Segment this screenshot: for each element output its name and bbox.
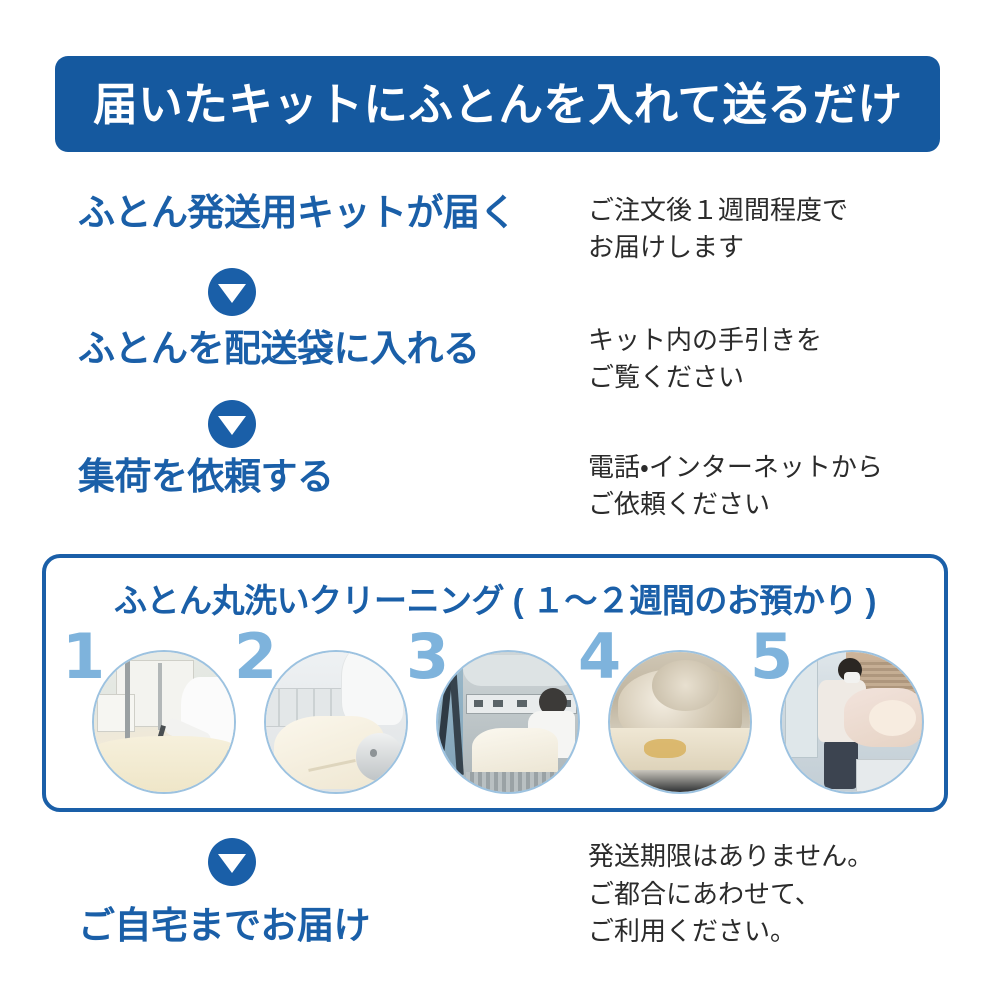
cleaning-photo-5: 5 (756, 632, 924, 802)
step-1-note: ご注文後１週間程度で お届けします (588, 192, 848, 266)
scene-worker-carrying-finished-futon (782, 652, 922, 792)
cleaning-photo-5-number: 5 (750, 626, 793, 688)
scene-futon-drying-fluffing (610, 652, 750, 792)
cleaning-photo-1-image (92, 650, 236, 794)
step-2-heading: ふとんを配送袋に入れる (78, 330, 480, 369)
cleaning-photo-2: 2 (240, 632, 408, 802)
header-banner-text: 届いたキットにふとんを入れて送るだけ (93, 82, 902, 127)
cleaning-section-box: ふとん丸洗いクリーニング ( １〜２週間のお預かり ) 1 2 (42, 554, 948, 812)
step-3-note: 電話・インターネットから ご依頼ください (588, 449, 883, 523)
infographic-page: 届いたキットにふとんを入れて送るだけ ふとん発送用キットが届く ご注文後１週間程… (0, 0, 1000, 1000)
cleaning-photo-4-image (608, 650, 752, 794)
step-1-note-line-2: お届けします (588, 229, 848, 266)
delivery-note: 発送期限はありません。 ご都合にあわせて、 ご利用ください。 (588, 838, 873, 951)
step-3-note-line-2: ご依頼ください (588, 486, 883, 523)
cleaning-photo-2-number: 2 (234, 626, 277, 688)
down-triangle-glyph (218, 284, 246, 303)
cleaning-photo-3: 3 (412, 632, 580, 802)
down-triangle-glyph (218, 854, 246, 873)
cleaning-photo-2-image (264, 650, 408, 794)
step-2-note: キット内の手引きを ご覧ください (588, 322, 822, 396)
cleaning-photo-4-number: 4 (578, 626, 621, 688)
cleaning-photo-4: 4 (584, 632, 752, 802)
step-1-heading: ふとん発送用キットが届く (78, 194, 516, 233)
cleaning-photo-3-image (436, 650, 580, 794)
step-3-heading: 集荷を依頼する (78, 458, 334, 497)
down-arrow-icon-3 (208, 838, 256, 886)
cleaning-photo-1-number: 1 (62, 626, 105, 688)
cleaning-photo-1: 1 (68, 632, 236, 802)
step-1-note-line-1: ご注文後１週間程度で (588, 192, 848, 229)
delivery-note-line-2: ご都合にあわせて、 (588, 876, 873, 914)
cleaning-photo-5-image (780, 650, 924, 794)
cleaning-photo-3-number: 3 (406, 626, 449, 688)
cleaning-section-title: ふとん丸洗いクリーニング ( １〜２週間のお預かり ) (114, 574, 876, 622)
down-triangle-glyph (218, 416, 246, 435)
delivery-note-line-1: 発送期限はありません。 (588, 838, 873, 876)
delivery-note-line-3: ご利用ください。 (588, 913, 873, 951)
scene-futon-through-roller-machine (266, 652, 406, 792)
step-2-note-line-1: キット内の手引きを (588, 322, 822, 359)
scene-industrial-washing-machine (438, 652, 578, 792)
step-2-note-line-2: ご覧ください (588, 359, 822, 396)
cleaning-photo-strip: 1 2 3 (46, 632, 944, 802)
down-arrow-icon-1 (208, 268, 256, 316)
header-banner: 届いたキットにふとんを入れて送るだけ (55, 56, 940, 152)
down-arrow-icon-2 (208, 400, 256, 448)
delivery-heading: ご自宅までお届け (78, 895, 370, 949)
step-3-note-line-1: 電話・インターネットから (588, 449, 883, 486)
scene-worker-pretreating-futon (94, 652, 234, 792)
